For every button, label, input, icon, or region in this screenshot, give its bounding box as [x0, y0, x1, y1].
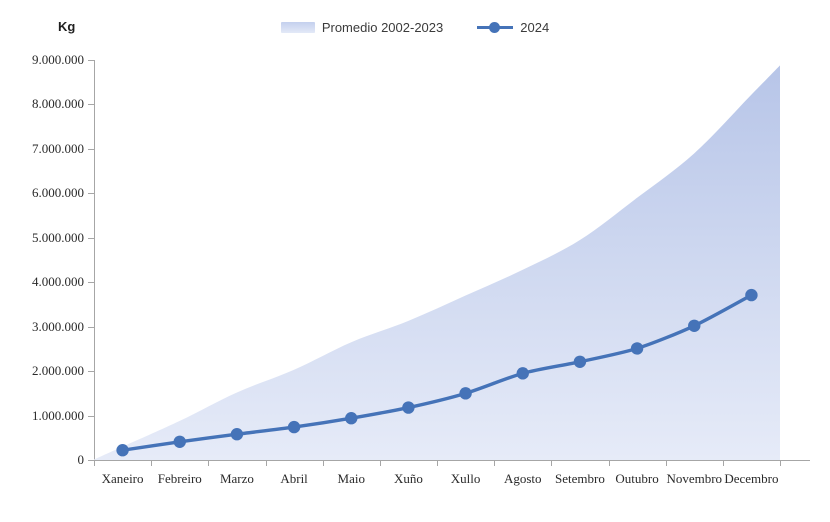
x-axis-tick-label: Xuño: [394, 471, 423, 487]
x-axis-tick: [666, 460, 667, 466]
data-point-marker[interactable]: [631, 342, 643, 354]
y-axis-tick-label: 8.000.000: [4, 96, 84, 112]
legend-item-2024[interactable]: 2024: [477, 20, 549, 35]
x-axis-tick: [94, 460, 95, 466]
x-axis-tick: [266, 460, 267, 466]
data-point-marker[interactable]: [231, 428, 243, 440]
x-axis-tick: [323, 460, 324, 466]
data-point-marker[interactable]: [402, 401, 414, 413]
x-axis-tick: [609, 460, 610, 466]
x-axis-tick: [551, 460, 552, 466]
x-axis-tick-label: Outubro: [615, 471, 658, 487]
y-axis-tick-label: 9.000.000: [4, 52, 84, 68]
x-axis-tick-label: Maio: [338, 471, 365, 487]
line-marker-swatch-icon: [477, 21, 513, 33]
data-point-marker[interactable]: [745, 289, 757, 301]
x-axis-tick: [780, 460, 781, 466]
y-axis-labels: 01.000.0002.000.0003.000.0004.000.0005.0…: [0, 0, 84, 522]
x-axis-tick: [151, 460, 152, 466]
area-swatch-icon: [281, 22, 315, 33]
data-point-marker[interactable]: [459, 387, 471, 399]
data-point-marker[interactable]: [688, 320, 700, 332]
x-axis-tick-label: Decembro: [724, 471, 778, 487]
legend-item-promedio[interactable]: Promedio 2002-2023: [281, 20, 443, 35]
y-axis-tick-label: 7.000.000: [4, 141, 84, 157]
x-axis-tick-label: Agosto: [504, 471, 542, 487]
y-axis-tick-label: 1.000.000: [4, 408, 84, 424]
x-axis-tick-label: Setembro: [555, 471, 605, 487]
x-axis-tick: [208, 460, 209, 466]
y-axis-tick-label: 6.000.000: [4, 185, 84, 201]
legend-item-label: 2024: [520, 20, 549, 35]
x-axis-tick: [380, 460, 381, 466]
x-axis-tick: [437, 460, 438, 466]
legend-item-label: Promedio 2002-2023: [322, 20, 443, 35]
x-axis-tick-label: Febreiro: [158, 471, 202, 487]
y-axis-tick-label: 5.000.000: [4, 230, 84, 246]
series-svg: [94, 60, 780, 460]
data-point-marker[interactable]: [116, 444, 128, 456]
y-axis-tick-label: 4.000.000: [4, 274, 84, 290]
x-axis-tick: [494, 460, 495, 466]
x-axis-tick-label: Novembro: [666, 471, 722, 487]
x-axis-tick-label: Abril: [280, 471, 307, 487]
data-point-marker[interactable]: [288, 421, 300, 433]
y-axis-tick-label: 2.000.000: [4, 363, 84, 379]
x-axis-tick: [723, 460, 724, 466]
y-axis-tick-label: 3.000.000: [4, 319, 84, 335]
y-axis-tick-label: 0: [4, 452, 84, 468]
chart-canvas: Promedio 2002-2023 2024 Kg 01.000.0002.0…: [0, 0, 830, 522]
x-axis-line: [94, 460, 810, 461]
plot-area: [94, 60, 780, 460]
x-axis-tick-label: Xullo: [451, 471, 481, 487]
data-point-marker[interactable]: [345, 412, 357, 424]
x-axis-tick-label: Marzo: [220, 471, 254, 487]
x-axis-tick-label: Xaneiro: [102, 471, 144, 487]
data-point-marker[interactable]: [517, 367, 529, 379]
data-point-marker[interactable]: [174, 436, 186, 448]
data-point-marker[interactable]: [574, 356, 586, 368]
chart-legend: Promedio 2002-2023 2024: [0, 14, 830, 40]
